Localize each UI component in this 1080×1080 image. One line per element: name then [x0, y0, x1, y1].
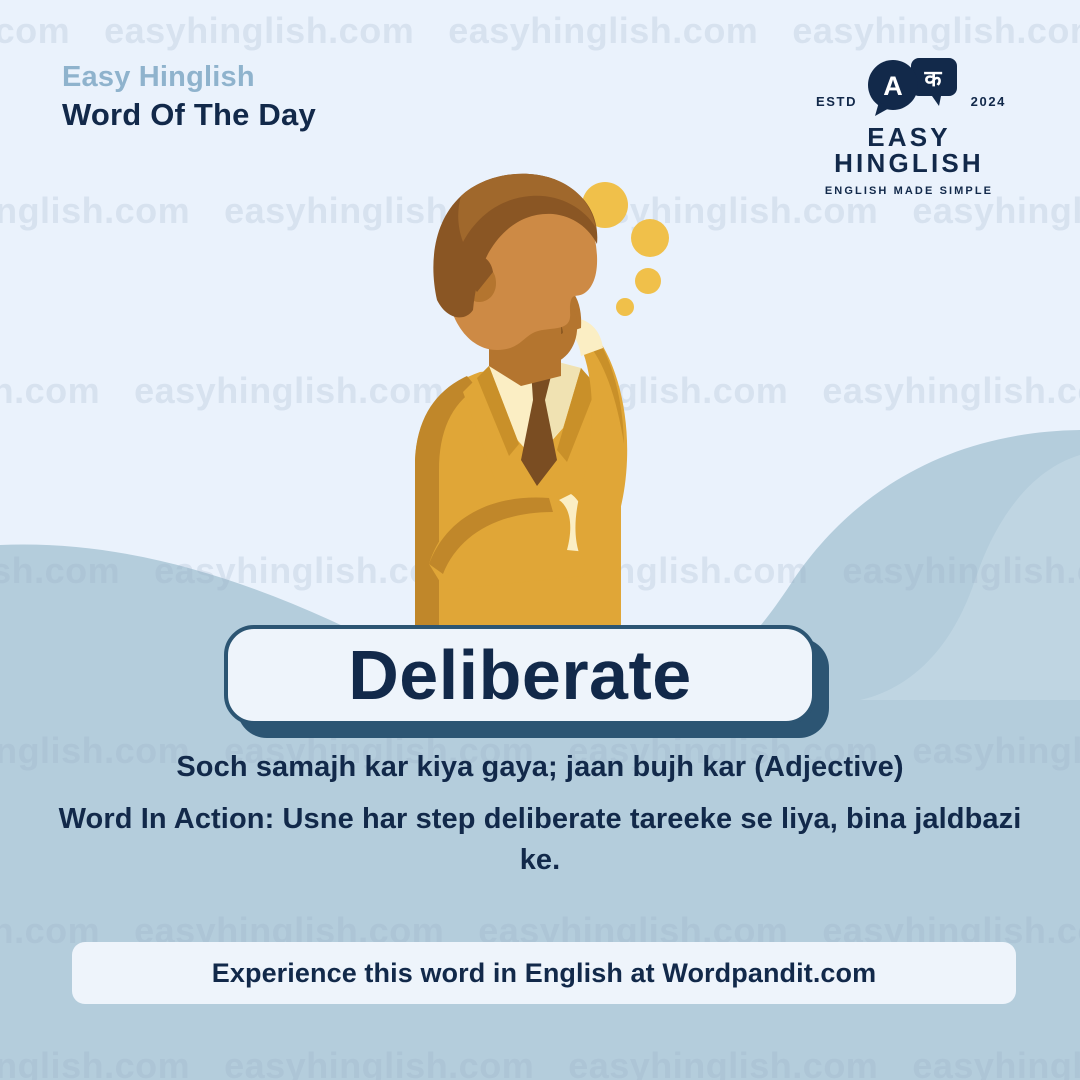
thought-bubble-icon — [616, 298, 634, 316]
logo-tagline: ENGLISH MADE SIMPLE — [794, 185, 1024, 197]
cta-label: Experience this word in English at Wordp… — [212, 958, 877, 989]
cta-banner[interactable]: Experience this word in English at Wordp… — [72, 942, 1016, 1004]
word-of-the-day: Deliberate — [348, 640, 691, 710]
word-description: Soch samajh kar kiya gaya; jaan bujh kar… — [40, 748, 1040, 881]
word-usage-example: Word In Action: Usne har step deliberate… — [40, 799, 1040, 881]
word-card-surface: Deliberate — [224, 625, 816, 725]
logo-estd-label: ESTD — [816, 94, 857, 109]
logo-wordmark: EASY HINGLISH — [794, 124, 1024, 176]
speech-bubbles-icon: क A — [861, 56, 957, 118]
svg-text:A: A — [883, 71, 903, 101]
svg-text:क: क — [924, 67, 943, 92]
word-card: Deliberate — [224, 625, 816, 725]
poster-header: Easy Hinglish Word Of The Day ESTD 2024 … — [0, 0, 1080, 175]
logo-mark-row: ESTD 2024 क A — [794, 60, 1024, 122]
easy-hinglish-logo: ESTD 2024 क A EASY HINGLISH ENGLISH MADE… — [794, 60, 1024, 197]
page-title: Word Of The Day — [62, 97, 316, 134]
brand-block: Easy Hinglish Word Of The Day — [62, 60, 316, 134]
word-meaning: Soch samajh kar kiya gaya; jaan bujh kar… — [40, 748, 1040, 787]
logo-year-label: 2024 — [971, 94, 1006, 109]
brand-name: Easy Hinglish — [62, 60, 316, 94]
thought-bubble-icon — [631, 219, 669, 257]
thought-bubble-icon — [635, 268, 661, 294]
thinking-man-illustration — [385, 160, 705, 630]
poster-canvas: easyhinglish.comeasyhinglish.comeasyhing… — [0, 0, 1080, 1080]
